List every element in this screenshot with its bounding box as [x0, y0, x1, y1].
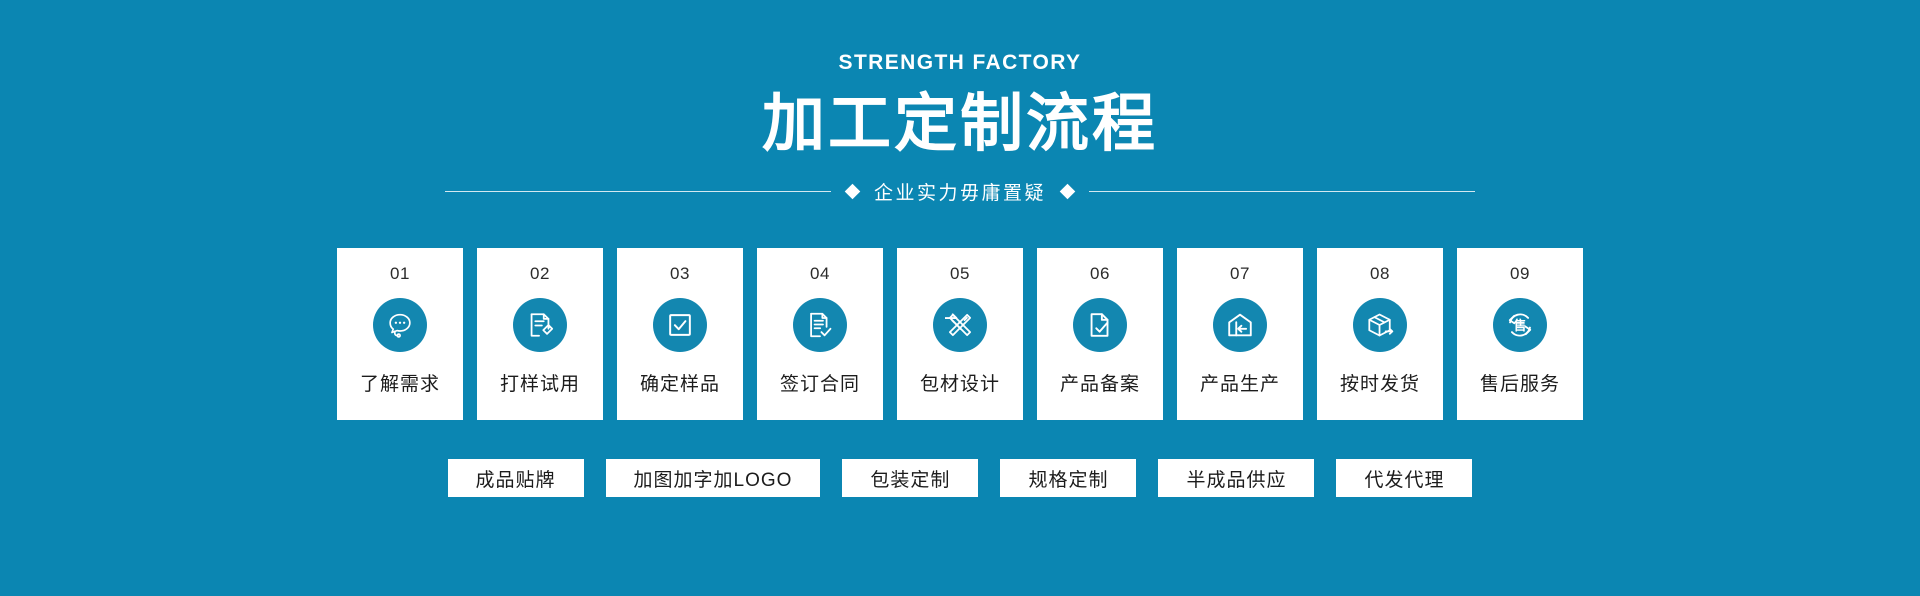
step-card-08[interactable]: 08 按时发货	[1317, 248, 1443, 420]
tag-button-1[interactable]: 成品贴牌	[448, 459, 584, 497]
file-check-icon	[1073, 298, 1127, 352]
page-title: 加工定制流程	[762, 88, 1158, 160]
title-divider: 企业实力毋庸置疑	[445, 178, 1475, 205]
tag-button-4[interactable]: 规格定制	[1000, 459, 1136, 497]
tag-button-6[interactable]: 代发代理	[1336, 459, 1472, 497]
step-number: 01	[390, 265, 410, 282]
divider-rule-left	[445, 191, 831, 192]
step-card-05[interactable]: 05 包材设计	[897, 248, 1023, 420]
refresh-sale-icon: 售	[1493, 298, 1547, 352]
step-card-04[interactable]: 04 签订合同	[757, 248, 883, 420]
step-number: 09	[1510, 265, 1530, 282]
step-label: 售后服务	[1480, 369, 1560, 396]
contract-check-icon	[793, 298, 847, 352]
checkbox-check-icon	[653, 298, 707, 352]
step-label: 产品备案	[1060, 369, 1140, 396]
step-number: 03	[670, 265, 690, 282]
pencil-ruler-cross-icon	[933, 298, 987, 352]
step-card-01[interactable]: 01 了解需求	[337, 248, 463, 420]
factory-arrow-icon	[1213, 298, 1267, 352]
chat-bubble-dots-icon	[373, 298, 427, 352]
step-number: 02	[530, 265, 550, 282]
step-label: 了解需求	[360, 369, 440, 396]
tag-button-3[interactable]: 包装定制	[842, 459, 978, 497]
step-label: 确定样品	[640, 369, 720, 396]
tag-button-2[interactable]: 加图加字加LOGO	[606, 459, 821, 497]
diamond-right-icon	[1060, 184, 1076, 200]
step-card-09[interactable]: 09 售 售后服务	[1457, 248, 1583, 420]
step-label: 产品生产	[1200, 369, 1280, 396]
step-card-02[interactable]: 02 打样试用	[477, 248, 603, 420]
promo-banner: STRENGTH FACTORY 加工定制流程 企业实力毋庸置疑 01	[0, 0, 1920, 596]
step-label: 包材设计	[920, 369, 1000, 396]
diamond-left-icon	[845, 184, 861, 200]
banner-header: STRENGTH FACTORY 加工定制流程 企业实力毋庸置疑	[0, 52, 1920, 205]
box-arrow-icon	[1353, 298, 1407, 352]
step-number: 08	[1370, 265, 1390, 282]
step-card-06[interactable]: 06 产品备案	[1037, 248, 1163, 420]
step-label: 按时发货	[1340, 369, 1420, 396]
step-number: 07	[1230, 265, 1250, 282]
document-tag-icon	[513, 298, 567, 352]
step-card-07[interactable]: 07 产品生产	[1177, 248, 1303, 420]
step-label: 打样试用	[500, 369, 580, 396]
subtitle-text: 企业实力毋庸置疑	[874, 178, 1046, 205]
step-number: 06	[1090, 265, 1110, 282]
eyebrow-text: STRENGTH FACTORY	[839, 52, 1082, 73]
step-number: 05	[950, 265, 970, 282]
step-card-03[interactable]: 03 确定样品	[617, 248, 743, 420]
step-label: 签订合同	[780, 369, 860, 396]
step-number: 04	[810, 265, 830, 282]
sale-character: 售	[1513, 319, 1526, 332]
service-tags-row: 成品贴牌 加图加字加LOGO 包装定制 规格定制 半成品供应 代发代理	[448, 459, 1473, 497]
process-steps-row: 01 了解需求 02	[337, 248, 1583, 420]
divider-rule-right	[1089, 191, 1475, 192]
tag-button-5[interactable]: 半成品供应	[1158, 459, 1314, 497]
